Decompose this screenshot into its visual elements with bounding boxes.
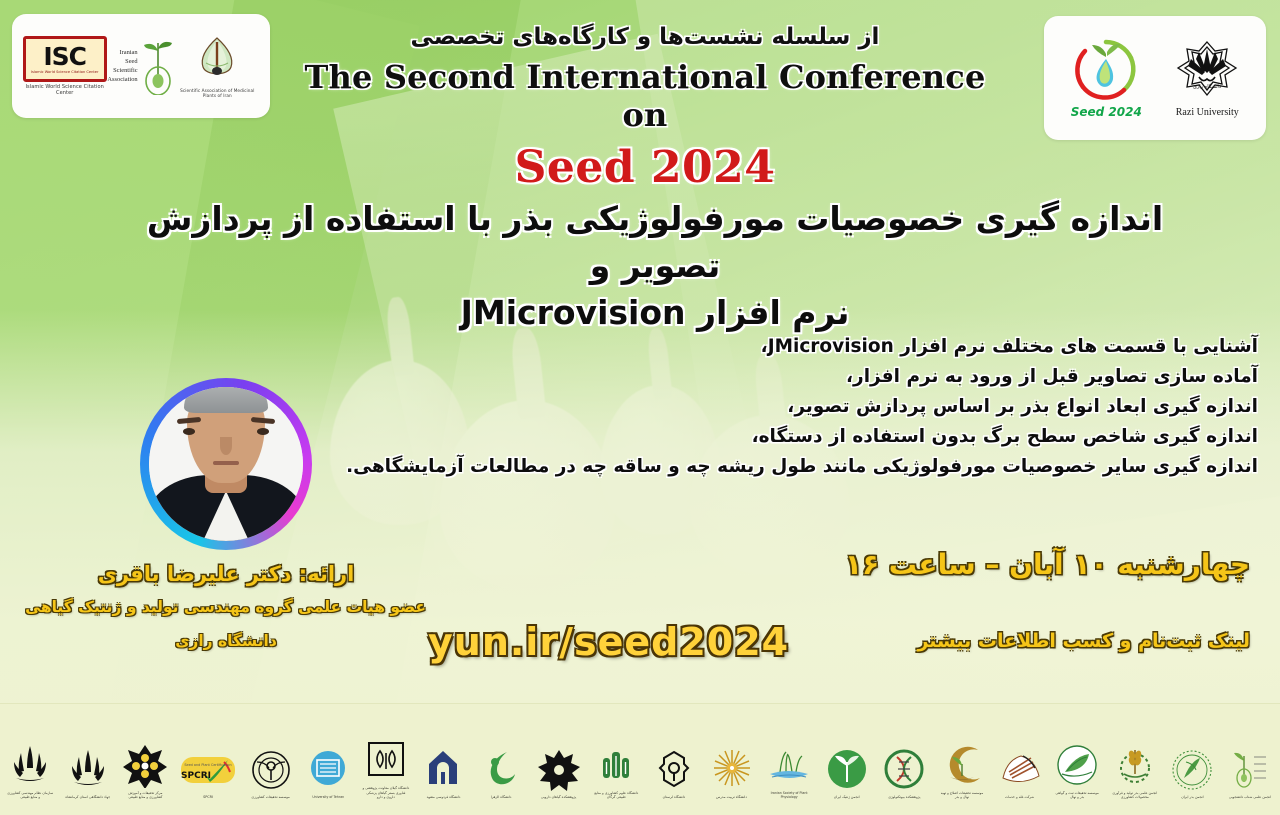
gorgan-wheat-icon (595, 743, 637, 789)
sponsor-logo: جهاد دانشگاهی استان کرمانشاه (64, 714, 112, 800)
dna-circle-icon (882, 747, 926, 793)
logo-medicinal-plants-association: Scientific Association of Medicinal Plan… (175, 34, 260, 99)
eight-point-star-icon (123, 743, 167, 789)
iss-word: Association (107, 76, 137, 83)
sponsor-logo: پژوهشکده بیوتکنولوژی (880, 714, 928, 800)
sponsor-logo: دانشگاه لرستان (650, 714, 698, 800)
conference-brand: Seed 2024 (280, 142, 1010, 193)
speaker-name: ارائه: دکتر علیرضا باقری (26, 562, 426, 586)
logo-razi-university: دانشگاه رازی Razi University (1175, 39, 1239, 118)
sponsor-logo: موسسه تحقیقات کشاورزی (247, 714, 295, 800)
list-item: آماده سازی تصاویر قبل از ورود به نرم افز… (618, 362, 1258, 392)
logo-seed-2024: Seed 2024 (1071, 37, 1142, 119)
sponsor-logo: انجمن بذر ایران (1168, 714, 1216, 800)
alzahra-emblem-icon (481, 747, 521, 793)
sponsor-logo: SPCRISeed and Plant Certification SPCRI (179, 714, 237, 800)
sponsor-logo: انجمن علمی بذر تولید و فرآوری محصولات کش… (1111, 714, 1159, 800)
logo-caption: Islamic World Science Citation Center (22, 84, 107, 97)
topics-list: آشنایی با قسمت های مختلف نرم افزار JMicr… (618, 332, 1258, 482)
list-item: آشنایی با قسمت های مختلف نرم افزار JMicr… (618, 332, 1258, 362)
sponsor-caption: موسسه تحقیقات ثبت و گواهی بذر و نهال (1053, 791, 1101, 800)
sponsor-logo: انجمن علمی شناب دانشجویی (1226, 714, 1274, 800)
kicker-text: از سلسله نشست‌ها و کارگاه‌های تخصصی (280, 24, 1010, 52)
seed-sprout-icon (141, 37, 175, 95)
agriculture-research-icon (249, 747, 293, 793)
list-item: اندازه گیری شاخص سطح برگ بدون استفاده از… (618, 422, 1258, 452)
sponsor-logo: مرکز تحقیقات و آموزش کشاورزی و منابع طبی… (121, 714, 169, 800)
sunburst-icon (710, 747, 754, 793)
sponsor-caption: موسسه تحقیقات اصلاح و تهیه نهال و بذر (938, 791, 986, 800)
conference-poster: Scientific Association of Medicinal Plan… (0, 0, 1280, 815)
green-leaves-badge-icon (825, 747, 869, 793)
star-flower-icon (536, 747, 582, 793)
svg-text:دانشگاه رازی: دانشگاه رازی (1193, 83, 1221, 90)
seed-2024-emblem-icon (1073, 37, 1139, 103)
sponsor-caption: سازمان نظام مهندسی کشاورزی و منابع طبیعی (6, 791, 54, 800)
speaker-affiliation-line-2: دانشگاه رازی (26, 629, 426, 654)
isc-subtitle: Islamic World Science Citation Center (31, 70, 99, 74)
sponsor-caption: SPCRI (203, 795, 213, 799)
sponsor-caption: موسسه تحقیقات کشاورزی (251, 795, 289, 799)
guilan-emblem-icon (364, 738, 408, 784)
workshop-title: اندازه گیری خصوصیات مورفولوژیکی بذر با ا… (120, 196, 1190, 337)
isc-wordmark: ISC (43, 44, 86, 69)
circular-seal-icon (1170, 747, 1214, 793)
sponsor-logo: دانشگاه فردوسی مشهد (419, 714, 467, 800)
svg-text:Seed and Plant Certification: Seed and Plant Certification (184, 763, 231, 767)
wheat-gear-icon (1114, 743, 1156, 789)
medicinal-seed-icon (194, 34, 240, 86)
workshop-title-line-1: اندازه گیری خصوصیات مورفولوژیکی بذر با ا… (120, 196, 1190, 290)
list-item: اندازه گیری ابعاد انواع بذر بر اساس پردا… (618, 392, 1258, 422)
logo-caption: Scientific Association of Medicinal Plan… (175, 88, 260, 99)
razi-university-emblem-icon: دانشگاه رازی (1175, 39, 1239, 105)
razi-university-label: Razi University (1176, 107, 1239, 118)
registration-url[interactable]: yun.ir/seed2024 (428, 620, 789, 664)
sponsor-caption: دانشگاه گیلان معاونت پژوهشی و فناوری بست… (362, 786, 410, 799)
seed-2024-label: Seed 2024 (1071, 105, 1142, 119)
sponsor-caption: انجمن علمی بذر تولید و فرآوری محصولات کش… (1111, 791, 1159, 800)
conference-title-en: The Second International Conference on (280, 58, 1010, 134)
sponsor-logo: شرکت غله و خدمات (996, 714, 1044, 800)
sponsor-logo: انجمن ژنتیک ایران (823, 714, 871, 800)
sponsor-caption: دانشگاه علوم کشاورزی و منابع طبیعی گرگان (592, 791, 640, 800)
isc-badge: ISC Islamic World Science Citation Cente… (23, 36, 107, 82)
registration-label: لینک ثبت‌نام و کسب اطلاعات بیشتر (917, 630, 1250, 652)
sponsor-logo: دانشگاه تربیت مدرس (708, 714, 756, 800)
sponsor-logo-strip: انجمن علمی شناب دانشجویی انجمن بذر ایران… (0, 703, 1280, 815)
iss-word: Scientific (107, 67, 137, 74)
organizer-logos-left: Scientific Association of Medicinal Plan… (12, 14, 270, 118)
logo-iranian-seed-scientific-association: Iranian Seed Scientific Association (107, 37, 174, 95)
sponsor-caption: Iranian Society of Plant Physiology (765, 791, 813, 799)
sponsor-logo: موسسه تحقیقات ثبت و گواهی بذر و نهال (1053, 714, 1101, 800)
crescent-sprout-icon (940, 743, 984, 789)
jahad-daneshgahi-icon (68, 747, 108, 793)
sponsor-caption: انجمن علمی شناب دانشجویی (1229, 795, 1271, 799)
sponsor-caption: پژوهشکده گیاهان دارویی (541, 795, 576, 799)
sponsor-caption: شرکت غله و خدمات (1005, 795, 1034, 799)
host-logos-right: دانشگاه رازی Razi University Seed 2024 (1044, 16, 1266, 140)
engineering-org-icon (10, 743, 50, 789)
sponsor-caption: University of Tehran (312, 795, 344, 799)
list-item: اندازه گیری سایر خصوصیات مورفولوژیکی مان… (618, 452, 1258, 482)
speaker-block: ارائه: دکتر علیرضا باقری عضو هیات علمی گ… (26, 378, 426, 654)
sponsor-caption: پژوهشکده بیوتکنولوژی (888, 795, 920, 799)
sponsor-logo: دانشگاه الزهرا (477, 714, 525, 800)
sponsor-logo: University of Tehran (304, 714, 352, 800)
sponsor-logo: موسسه تحقیقات اصلاح و تهیه نهال و بذر (938, 714, 986, 800)
workshop-title-line-2: نرم افزار JMicrovision (120, 290, 1190, 337)
svg-text:SPCRI: SPCRI (181, 771, 211, 781)
headline-block: از سلسله نشست‌ها و کارگاه‌های تخصصی The … (280, 24, 1010, 193)
sponsor-caption: انجمن ژنتیک ایران (834, 795, 860, 799)
sponsor-logo: سازمان نظام مهندسی کشاورزی و منابع طبیعی (6, 714, 54, 800)
iss-wordmark: Iranian Seed Scientific Association (107, 49, 137, 83)
sponsor-logo: Iranian Society of Plant Physiology (765, 714, 813, 800)
spcri-logo-icon: SPCRISeed and Plant Certification (180, 747, 236, 793)
plant-physiology-icon (766, 743, 812, 789)
avatar (149, 387, 303, 541)
university-of-tehran-icon (308, 747, 348, 793)
sponsor-logo: دانشگاه علوم کشاورزی و منابع طبیعی گرگان (592, 714, 640, 800)
sponsor-caption: دانشگاه الزهرا (491, 795, 512, 799)
logo-isc: ISC Islamic World Science Citation Cente… (22, 36, 107, 97)
ferdowsi-tower-icon (424, 747, 462, 793)
sponsor-caption: جهاد دانشگاهی استان کرمانشاه (65, 795, 110, 799)
grain-silo-icon (997, 747, 1043, 793)
sponsor-logo: دانشگاه گیلان معاونت پژوهشی و فناوری بست… (362, 714, 410, 800)
sponsor-caption: دانشگاه تربیت مدرس (716, 795, 747, 799)
sponsor-caption: دانشگاه لرستان (663, 795, 685, 799)
sponsor-caption: مرکز تحقیقات و آموزش کشاورزی و منابع طبی… (121, 791, 169, 800)
sponsor-caption: دانشگاه فردوسی مشهد (427, 795, 461, 799)
iss-word: Seed (107, 58, 137, 65)
avatar-ring (140, 378, 312, 550)
lorestan-emblem-icon (654, 747, 694, 793)
sponsor-logo: پژوهشکده گیاهان دارویی (535, 714, 583, 800)
iss-word: Iranian (107, 49, 137, 56)
sprout-seed-icon (1230, 747, 1270, 793)
event-datetime: چهارشنبه ۱۰ آبان – ساعت ۱۶ (845, 548, 1250, 581)
leaf-circle-icon (1054, 743, 1100, 789)
sponsor-caption: انجمن بذر ایران (1181, 795, 1203, 799)
speaker-affiliation-line-1: عضو هیات علمی گروه مهندسی تولید و ژنتیک … (26, 595, 426, 620)
